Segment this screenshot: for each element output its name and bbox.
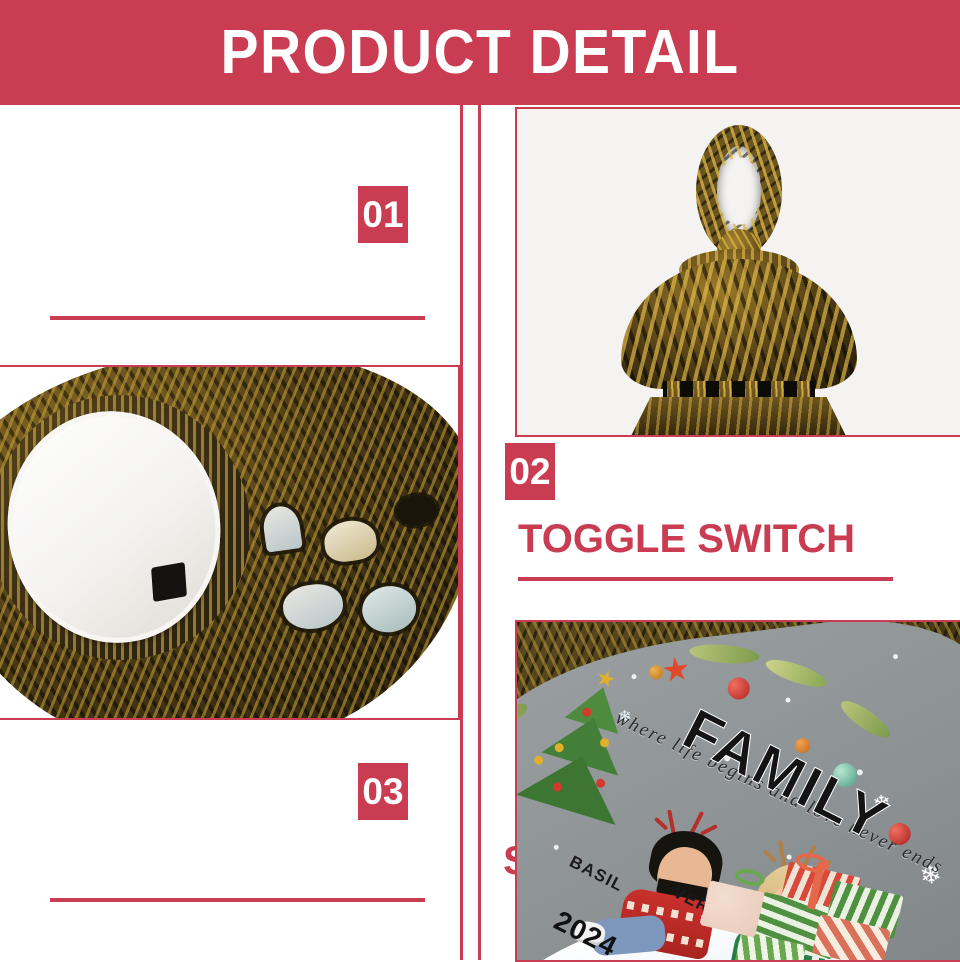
header-banner: PRODUCT DETAIL <box>0 0 960 105</box>
antler-icon <box>654 817 668 831</box>
photo-portable-lantern-base <box>0 365 460 720</box>
page-title: PRODUCT DETAIL <box>221 22 740 84</box>
name-label-left: BASIL <box>566 852 627 896</box>
foliage-sprig <box>836 695 894 743</box>
photo-lantern-cap <box>515 107 960 437</box>
section-title-toggle-switch: TOGGLE SWITCH <box>518 519 855 559</box>
cap-base-plate <box>629 397 849 437</box>
section-rule-03 <box>50 898 425 902</box>
toggle-switch-icon <box>151 562 187 602</box>
section-rule-02 <box>518 577 893 581</box>
column-divider-left <box>460 105 463 960</box>
antler-icon <box>763 849 777 863</box>
section-number-badge-02: 02 <box>505 443 555 500</box>
snow-dot <box>553 845 559 851</box>
snow-dot <box>893 654 899 660</box>
snow-dot <box>785 697 791 703</box>
bauble-ornament <box>726 676 751 701</box>
photo-personalized-family-panel: ❄ ❄ ❄ where life begins and l <box>515 620 960 962</box>
section-number-badge-01: 01 <box>358 186 408 243</box>
bauble-ornament <box>648 665 664 681</box>
printed-glass-panel: ❄ ❄ ❄ where life begins and l <box>515 620 960 962</box>
snow-dot <box>631 674 637 680</box>
section-number-badge-03: 03 <box>358 763 408 820</box>
antler-icon <box>700 824 718 836</box>
cutout-shape <box>395 493 439 528</box>
foliage-sprig <box>689 642 760 666</box>
foliage-sprig <box>763 654 829 692</box>
cutout-shape <box>280 581 346 633</box>
lantern-cutout-group <box>254 472 460 718</box>
section-rule-01 <box>50 316 425 320</box>
cutout-shape <box>359 583 419 636</box>
cutout-shape <box>261 504 303 553</box>
cutout-shape <box>322 518 379 565</box>
star-ornament-icon <box>662 655 691 684</box>
column-divider-right <box>478 105 481 960</box>
lantern-dome-cap <box>621 259 857 389</box>
